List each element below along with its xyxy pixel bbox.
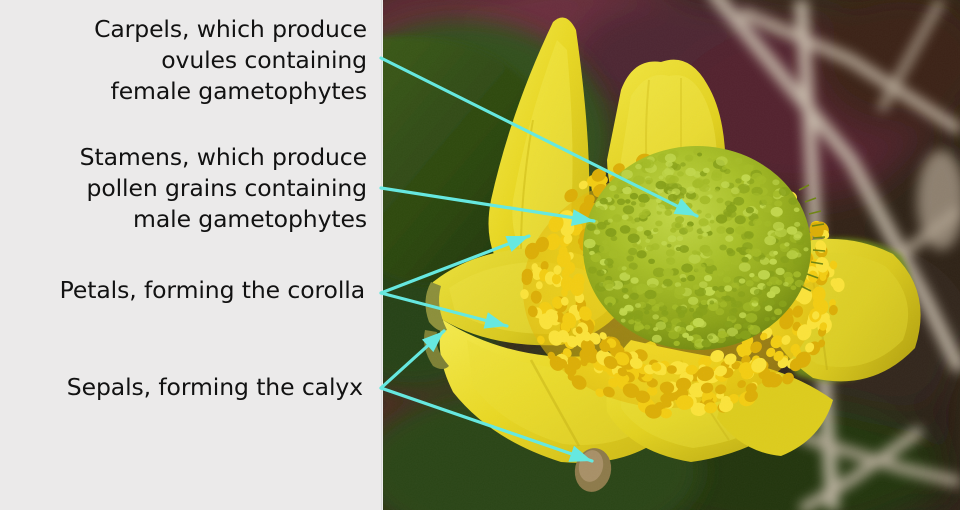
flower-photograph <box>381 0 960 510</box>
flower-photo-svg <box>381 0 960 510</box>
label-sepals: Sepals, forming the calyx <box>3 372 363 403</box>
label-stamens: Stamens, which produce pollen grains con… <box>7 142 367 235</box>
photo-grain <box>381 0 960 510</box>
label-petals: Petals, forming the corolla <box>5 275 365 306</box>
label-panel: Carpels, which produce ovules containing… <box>0 0 381 510</box>
figure-root: Carpels, which produce ovules containing… <box>0 0 960 510</box>
label-carpels: Carpels, which produce ovules containing… <box>7 14 367 107</box>
